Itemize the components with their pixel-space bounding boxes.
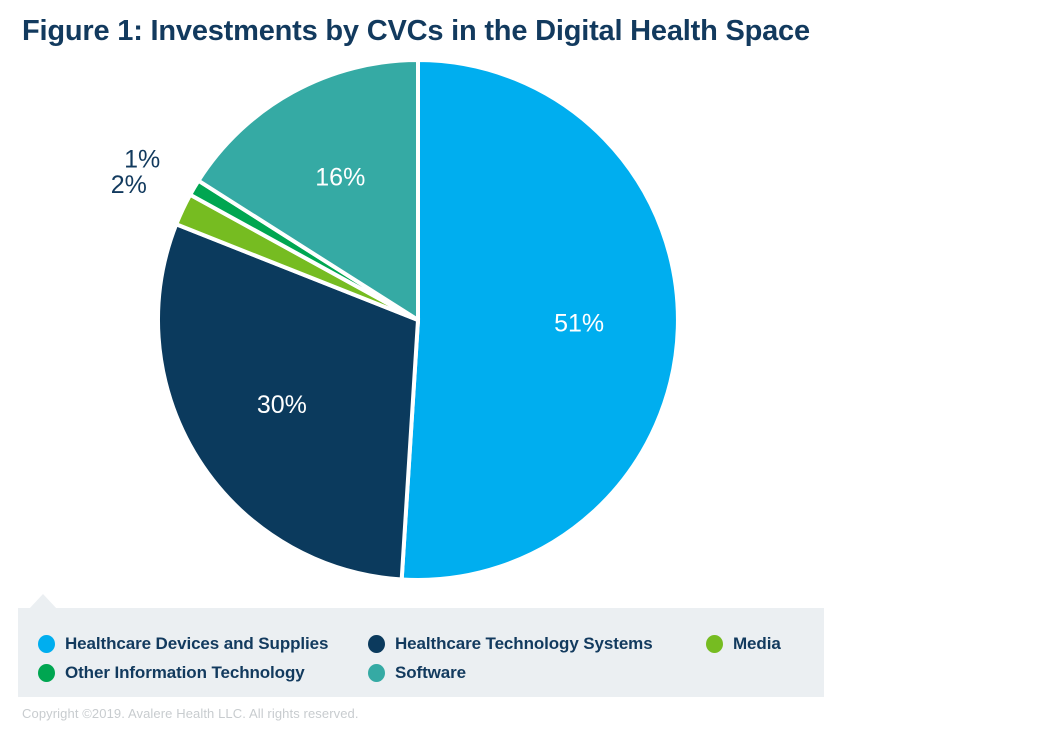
legend-item-label: Media [733, 634, 781, 654]
legend-swatch-icon [368, 664, 385, 682]
legend-item-label: Healthcare Devices and Supplies [65, 634, 328, 654]
legend-item-software[interactable]: Software [368, 663, 466, 683]
pie-chart-svg: 51%30%2%1%16% [0, 0, 1044, 600]
legend-item-other-information-technology[interactable]: Other Information Technology [38, 663, 305, 683]
legend-pointer-triangle-icon [29, 594, 57, 609]
pie-slice-value-label: 16% [315, 163, 365, 191]
figure-container: Figure 1: Investments by CVCs in the Dig… [0, 0, 1044, 729]
legend-item-healthcare-devices-and-supplies[interactable]: Healthcare Devices and Supplies [38, 634, 328, 654]
pie-slice-value-label: 30% [257, 391, 307, 419]
pie-slice-value-label: 1% [124, 146, 160, 174]
pie-slice-value-label: 51% [554, 310, 604, 338]
legend-swatch-icon [368, 635, 385, 653]
legend-item-label: Other Information Technology [65, 663, 305, 683]
legend-item-healthcare-technology-systems[interactable]: Healthcare Technology Systems [368, 634, 653, 654]
pie-chart: 51%30%2%1%16% [0, 0, 1044, 600]
legend-item-media[interactable]: Media [706, 634, 781, 654]
legend-swatch-icon [38, 635, 55, 653]
legend-item-label: Software [395, 663, 466, 683]
copyright-notice: Copyright ©2019. Avalere Health LLC. All… [22, 706, 359, 721]
pie-slice[interactable] [402, 60, 678, 580]
legend-swatch-icon [706, 635, 723, 653]
legend-swatch-icon [38, 664, 55, 682]
legend-item-label: Healthcare Technology Systems [395, 634, 653, 654]
pie-slice-value-label: 2% [111, 171, 147, 199]
